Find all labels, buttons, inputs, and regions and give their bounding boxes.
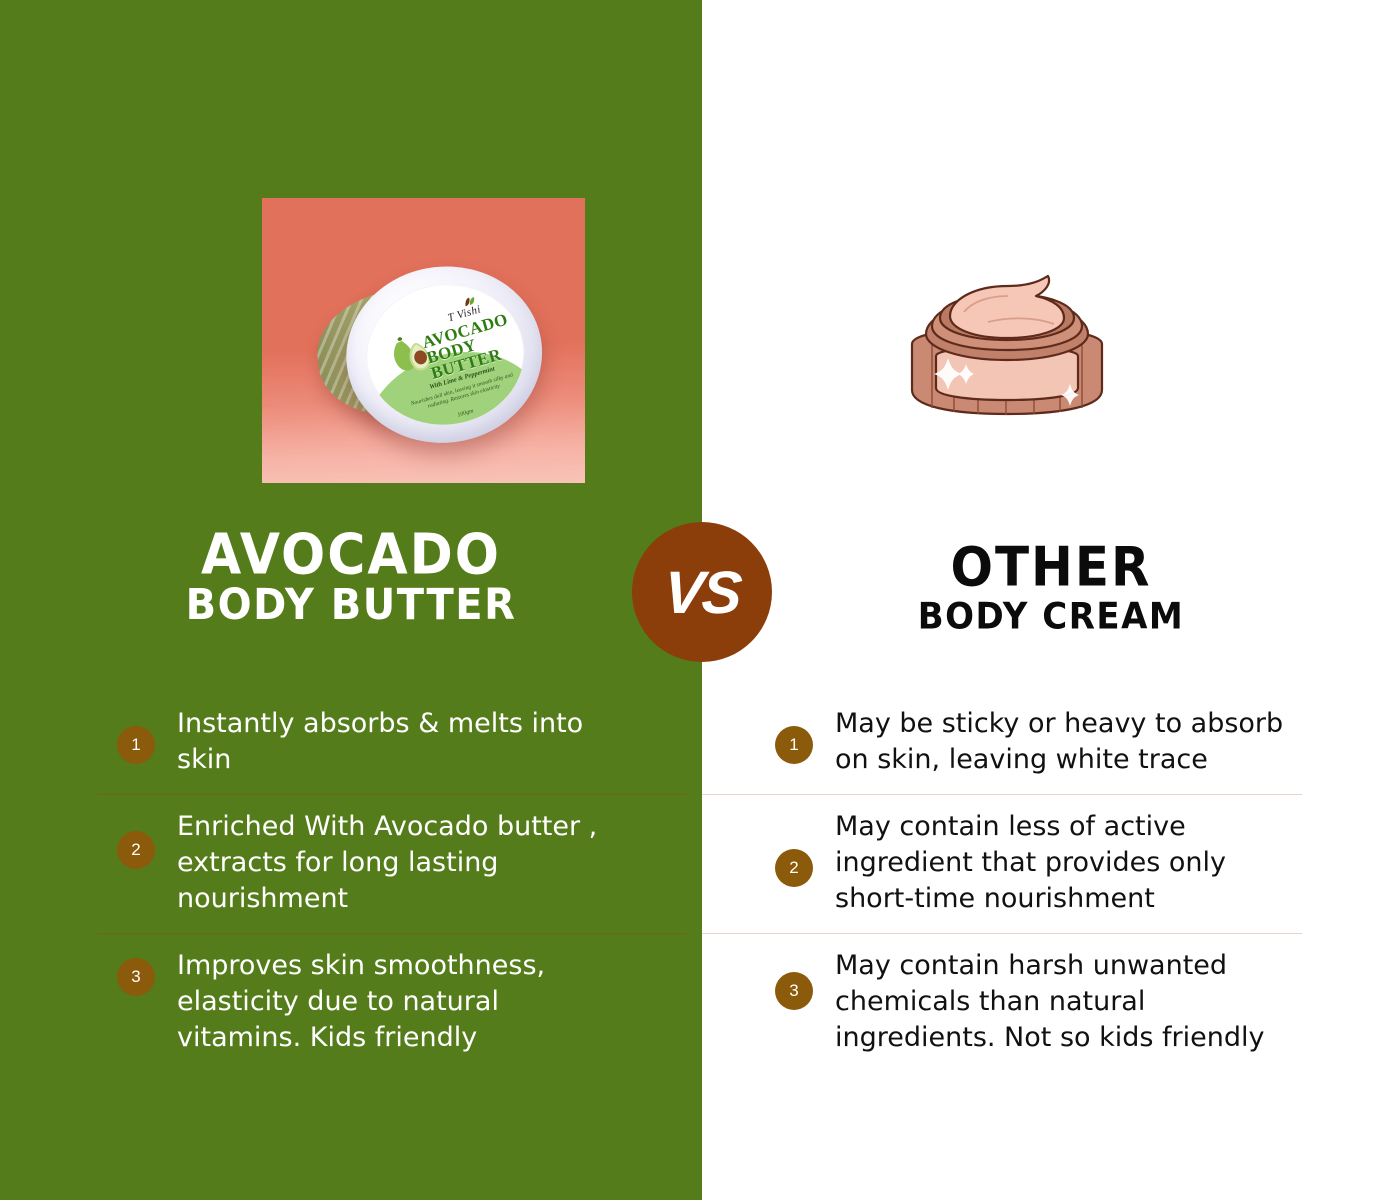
product-photo: T Vishi AVOCADO BODY BUTTER With Lime & … — [262, 198, 585, 483]
list-item: 2 Enriched With Avocado butter , extract… — [97, 794, 687, 933]
item-text: Improves skin smoothness, elasticity due… — [177, 948, 607, 1056]
list-item: 1 May be sticky or heavy to absorb on sk… — [702, 692, 1302, 794]
item-text: May contain harsh unwanted chemicals tha… — [835, 948, 1287, 1056]
comparison-infographic: T Vishi AVOCADO BODY BUTTER With Lime & … — [0, 0, 1400, 1200]
list-item: 2 May contain less of active ingredient … — [702, 794, 1302, 933]
item-number-badge: 3 — [117, 958, 155, 996]
left-feature-list: 1 Instantly absorbs & melts into skin 2 … — [97, 692, 687, 1072]
list-item: 3 May contain harsh unwanted chemicals t… — [702, 933, 1302, 1072]
item-text: Instantly absorbs & melts into skin — [177, 706, 607, 778]
list-item: 3 Improves skin smoothness, elasticity d… — [97, 933, 687, 1072]
right-title: OTHER BODY CREAM — [702, 540, 1400, 640]
right-feature-list: 1 May be sticky or heavy to absorb on sk… — [702, 692, 1302, 1072]
item-number-badge: 1 — [117, 726, 155, 764]
vs-label: VS — [662, 558, 743, 627]
right-title-line2: BODY CREAM — [702, 593, 1400, 642]
item-number-badge: 3 — [775, 972, 813, 1010]
item-number-badge: 2 — [117, 831, 155, 869]
item-text: Enriched With Avocado butter , extracts … — [177, 809, 607, 917]
left-title: AVOCADO BODY BUTTER — [0, 528, 702, 628]
item-number-badge: 2 — [775, 849, 813, 887]
avocado-body-butter-jar: T Vishi AVOCADO BODY BUTTER With Lime & … — [293, 227, 555, 464]
item-text: May contain less of active ingredient th… — [835, 809, 1287, 917]
right-title-line1: OTHER — [702, 538, 1400, 596]
vs-badge: VS — [632, 522, 772, 662]
left-title-line1: AVOCADO — [0, 526, 702, 584]
body-cream-jar-illustration — [902, 272, 1112, 450]
left-title-line2: BODY BUTTER — [0, 581, 702, 630]
item-text: May be sticky or heavy to absorb on skin… — [835, 706, 1287, 778]
list-item: 1 Instantly absorbs & melts into skin — [97, 692, 687, 794]
item-number-badge: 1 — [775, 726, 813, 764]
